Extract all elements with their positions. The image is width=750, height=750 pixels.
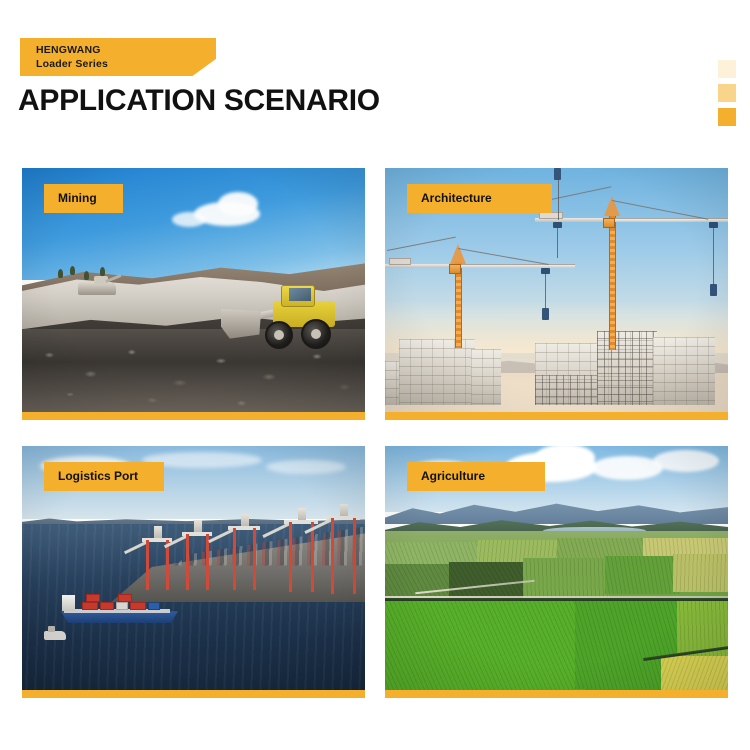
wheel-loader-icon [215, 283, 341, 349]
rubble-texture [22, 339, 365, 412]
tower-crane-icon [429, 228, 599, 348]
application-scenario-page: HENGWANG Loader Series APPLICATION SCENA… [0, 0, 750, 750]
container-ship-icon [56, 597, 178, 623]
crop-field [661, 656, 728, 690]
excavator-icon [78, 273, 120, 295]
crop-field [385, 601, 585, 690]
page-title: APPLICATION SCENARIO [18, 83, 380, 119]
scenario-card-mining[interactable]: Mining [22, 168, 365, 420]
brand-name: HENGWANG [36, 43, 216, 57]
deco-square-solid-icon [718, 108, 736, 126]
scenario-card-architecture[interactable]: Architecture [385, 168, 728, 420]
farm-road [385, 596, 728, 598]
gantry-crane-icon [284, 520, 318, 592]
scenario-card-grid: Mining [22, 168, 728, 706]
deco-square-light-icon [718, 60, 736, 78]
card-label-architecture: Architecture [407, 184, 552, 213]
card-accent-bar [22, 412, 365, 420]
card-accent-bar [385, 412, 728, 420]
building [399, 339, 475, 405]
gantry-crane-icon [326, 516, 360, 594]
scaffolding [535, 375, 601, 405]
scenario-card-agriculture[interactable]: Agriculture [385, 446, 728, 698]
cloud-icon [218, 192, 258, 216]
crop-field [523, 558, 609, 598]
scenario-card-logistics-port[interactable]: Logistics Port [22, 446, 365, 698]
brand-badge: HENGWANG Loader Series [20, 38, 216, 76]
card-label-mining: Mining [44, 184, 123, 213]
tower-crane-icon [581, 174, 728, 344]
crop-field [605, 556, 679, 594]
card-accent-bar [22, 690, 365, 698]
cloud-icon [266, 460, 346, 474]
cloud-icon [653, 450, 719, 472]
card-accent-bar [385, 690, 728, 698]
building [653, 337, 715, 405]
crop-field [673, 554, 728, 592]
tugboat-icon [44, 631, 66, 640]
deco-square-medium-icon [718, 84, 736, 102]
building [471, 349, 501, 405]
page-header: HENGWANG Loader Series APPLICATION SCENA… [0, 0, 750, 150]
decorative-squares [718, 60, 736, 126]
card-label-logistics-port: Logistics Port [44, 462, 164, 491]
gantry-crane-icon [228, 526, 260, 590]
tree-icon [70, 266, 75, 275]
brand-series: Loader Series [36, 57, 216, 71]
card-label-agriculture: Agriculture [407, 462, 545, 491]
cloud-icon [172, 212, 206, 227]
tree-icon [58, 269, 63, 278]
